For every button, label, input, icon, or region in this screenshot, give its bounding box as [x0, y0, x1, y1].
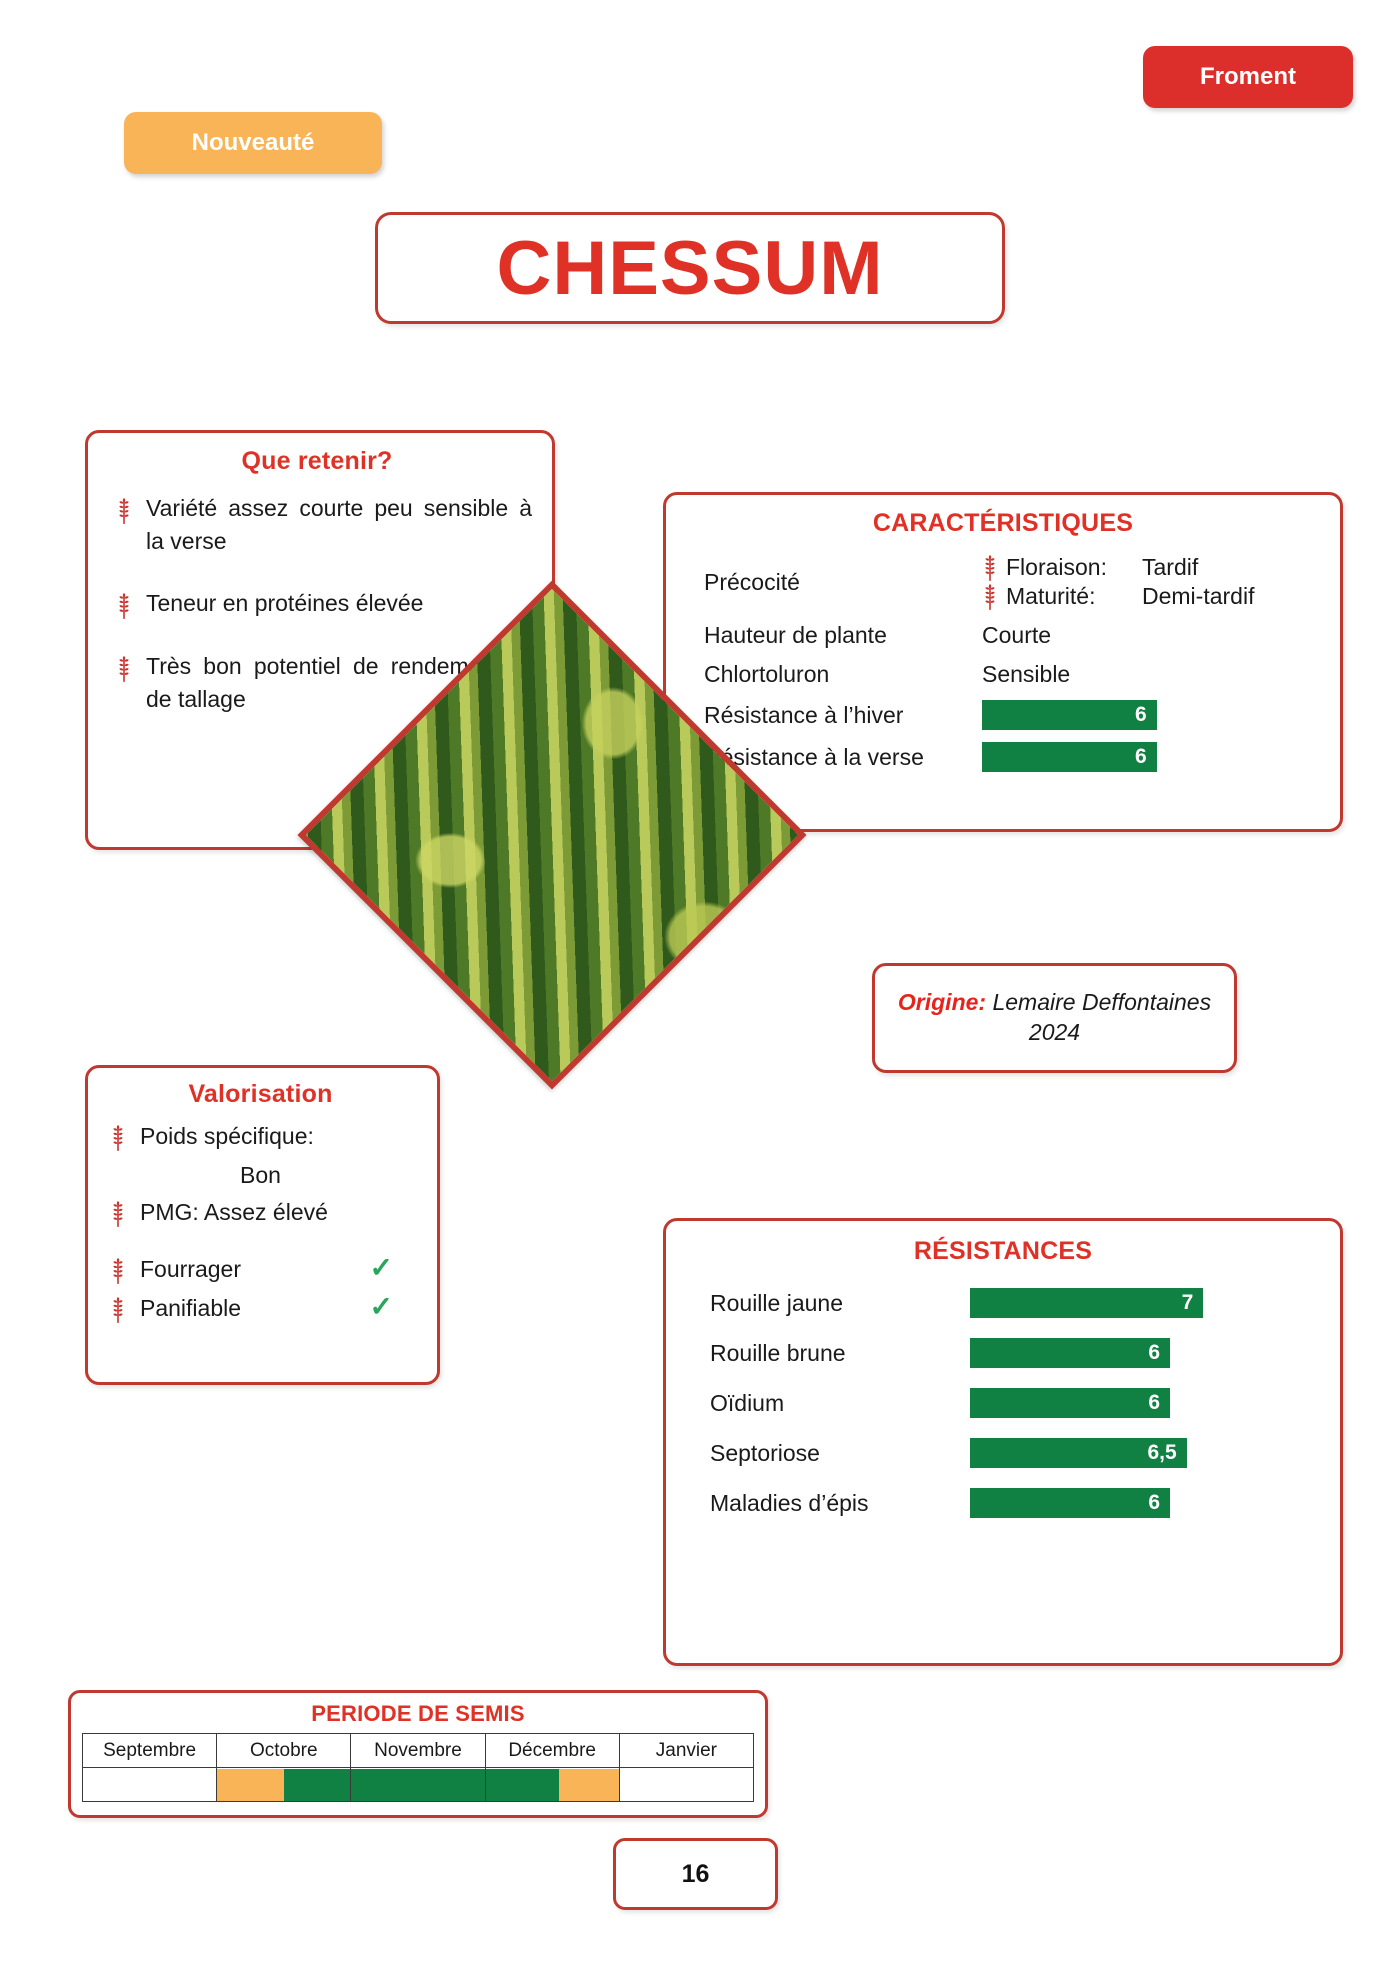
list-item-label: PMG: Assez élevé	[140, 1197, 421, 1228]
poids-specifique-value: Bon	[100, 1160, 421, 1191]
score-bar: 6	[970, 1338, 1170, 1368]
semis-segment	[83, 1769, 216, 1801]
variety-name: CHESSUM	[496, 225, 883, 312]
valorisation-title: Valorisation	[100, 1080, 421, 1109]
month-header: Janvier	[619, 1734, 753, 1768]
wheat-ear-icon	[116, 498, 132, 524]
table-header-row: Septembre Octobre Novembre Décembre Janv…	[83, 1734, 754, 1768]
semis-segment	[559, 1769, 619, 1801]
list-item: Poids spécifique:	[100, 1121, 421, 1152]
resistance-hiver-label: Résistance à l’hiver	[704, 696, 982, 735]
table-row	[83, 1768, 754, 1802]
resistances-card: RÉSISTANCES Rouille jaune 7 Rouille brun…	[663, 1218, 1343, 1666]
score-value: 6	[1148, 1491, 1160, 1515]
resistance-verse-bar: 6	[982, 736, 1316, 778]
new-variety-badge: Nouveauté	[124, 112, 382, 174]
score-bar: 6	[982, 700, 1157, 730]
page-number: 16	[682, 1860, 710, 1889]
caracteristiques-title: CARACTÉRISTIQUES	[690, 509, 1316, 538]
variety-name-box: CHESSUM	[375, 212, 1005, 324]
score-value: 6	[1148, 1391, 1160, 1415]
score-bar: 6	[982, 742, 1157, 772]
score-value: 6,5	[1147, 1441, 1176, 1465]
resistance-verse-label: Résistance à la verse	[704, 738, 982, 777]
precocite-maturite-row: Maturité: Demi-tardif	[982, 583, 1316, 610]
origine-label: Origine:	[898, 989, 986, 1015]
resistance-label: Maladies d’épis	[710, 1490, 970, 1517]
semis-segment	[486, 1769, 559, 1801]
month-header: Septembre	[83, 1734, 217, 1768]
score-bar: 6	[970, 1388, 1170, 1418]
floraison-value: Tardif	[1142, 554, 1198, 581]
periode-semis-title: PERIODE DE SEMIS	[79, 1701, 757, 1727]
resistance-label: Oïdium	[710, 1390, 970, 1417]
wheat-ear-icon	[116, 656, 132, 682]
list-item-label: Teneur en protéines élevée	[146, 587, 532, 620]
list-item-label: Panifiable	[140, 1293, 356, 1324]
wheat-ear-icon	[110, 1258, 126, 1284]
wheat-ear-icon	[110, 1125, 126, 1151]
semis-segment	[284, 1769, 351, 1801]
table-row: Rouille jaune 7	[690, 1288, 1316, 1318]
origine-value: Lemaire Deffontaines 2024	[992, 989, 1211, 1045]
score-bar: 6,5	[970, 1438, 1187, 1468]
crop-type-badge: Froment	[1143, 46, 1353, 108]
caracteristiques-card: CARACTÉRISTIQUES Précocité	[663, 492, 1343, 832]
periode-semis-table: Septembre Octobre Novembre Décembre Janv…	[82, 1733, 754, 1802]
precocite-values: Floraison: Tardif Maturi	[982, 548, 1316, 616]
maturite-value: Demi-tardif	[1142, 583, 1254, 610]
page-number-box: 16	[613, 1838, 778, 1910]
check-icon: ✓	[370, 1254, 421, 1282]
maturite-label: Maturité:	[1006, 583, 1134, 610]
precocite-floraison-row: Floraison: Tardif	[982, 554, 1316, 581]
score-bar: 7	[970, 1288, 1203, 1318]
month-header: Décembre	[485, 1734, 619, 1768]
crop-type-label: Froment	[1200, 63, 1296, 91]
list-item: Fourrager ✓	[100, 1254, 421, 1285]
origine-card: Origine: Lemaire Deffontaines 2024	[872, 963, 1237, 1073]
semis-cell	[351, 1768, 485, 1802]
semis-segment	[620, 1769, 753, 1801]
hauteur-plante-label: Hauteur de plante	[704, 616, 982, 655]
wheat-ear-icon	[982, 555, 998, 581]
origine-text: Origine: Lemaire Deffontaines 2024	[891, 988, 1218, 1048]
semis-segment	[217, 1769, 284, 1801]
table-row: Rouille brune 6	[690, 1338, 1316, 1368]
score-value: 7	[1182, 1291, 1194, 1315]
list-item-label: Variété assez courte peu sensible à la v…	[146, 492, 532, 557]
semis-cell	[83, 1768, 217, 1802]
score-value: 6	[1135, 745, 1147, 769]
list-item: PMG: Assez élevé	[100, 1197, 421, 1228]
new-variety-label: Nouveauté	[192, 129, 315, 157]
list-item: Teneur en protéines élevée	[102, 587, 532, 620]
table-row: Oïdium 6	[690, 1388, 1316, 1418]
table-row: Septoriose 6,5	[690, 1438, 1316, 1468]
semis-cell	[619, 1768, 753, 1802]
check-icon: ✓	[370, 1293, 421, 1321]
semis-cell	[485, 1768, 619, 1802]
list-item: Variété assez courte peu sensible à la v…	[102, 492, 532, 557]
floraison-label: Floraison:	[1006, 554, 1134, 581]
list-item: Panifiable ✓	[100, 1293, 421, 1324]
wheat-ear-icon	[110, 1297, 126, 1323]
list-item-label: Fourrager	[140, 1254, 356, 1285]
periode-semis-card: PERIODE DE SEMIS Septembre Octobre Novem…	[68, 1690, 768, 1818]
wheat-ear-icon	[116, 593, 132, 619]
score-value: 6	[1148, 1341, 1160, 1365]
table-row: Maladies d’épis 6	[690, 1488, 1316, 1518]
resistances-title: RÉSISTANCES	[690, 1237, 1316, 1266]
score-bar: 6	[970, 1488, 1170, 1518]
resistance-label: Rouille brune	[710, 1340, 970, 1367]
list-item-label: Poids spécifique:	[140, 1121, 421, 1152]
month-header: Novembre	[351, 1734, 485, 1768]
resistance-label: Septoriose	[710, 1440, 970, 1467]
hauteur-plante-value: Courte	[982, 616, 1316, 655]
resistance-hiver-bar: 6	[982, 694, 1316, 736]
score-value: 6	[1135, 703, 1147, 727]
wheat-ear-icon	[110, 1201, 126, 1227]
semis-segment	[351, 1769, 484, 1801]
que-retenir-title: Que retenir?	[102, 447, 532, 476]
chlortoluron-label: Chlortoluron	[704, 655, 982, 694]
caracteristiques-grid: Précocité Floraison:	[690, 548, 1316, 778]
semis-cell	[217, 1768, 351, 1802]
chlortoluron-value: Sensible	[982, 655, 1316, 694]
precocite-label: Précocité	[704, 563, 982, 602]
valorisation-card: Valorisation Poids spécifique: Bon	[85, 1065, 440, 1385]
resistance-label: Rouille jaune	[710, 1290, 970, 1317]
wheat-ear-icon	[982, 584, 998, 610]
month-header: Octobre	[217, 1734, 351, 1768]
